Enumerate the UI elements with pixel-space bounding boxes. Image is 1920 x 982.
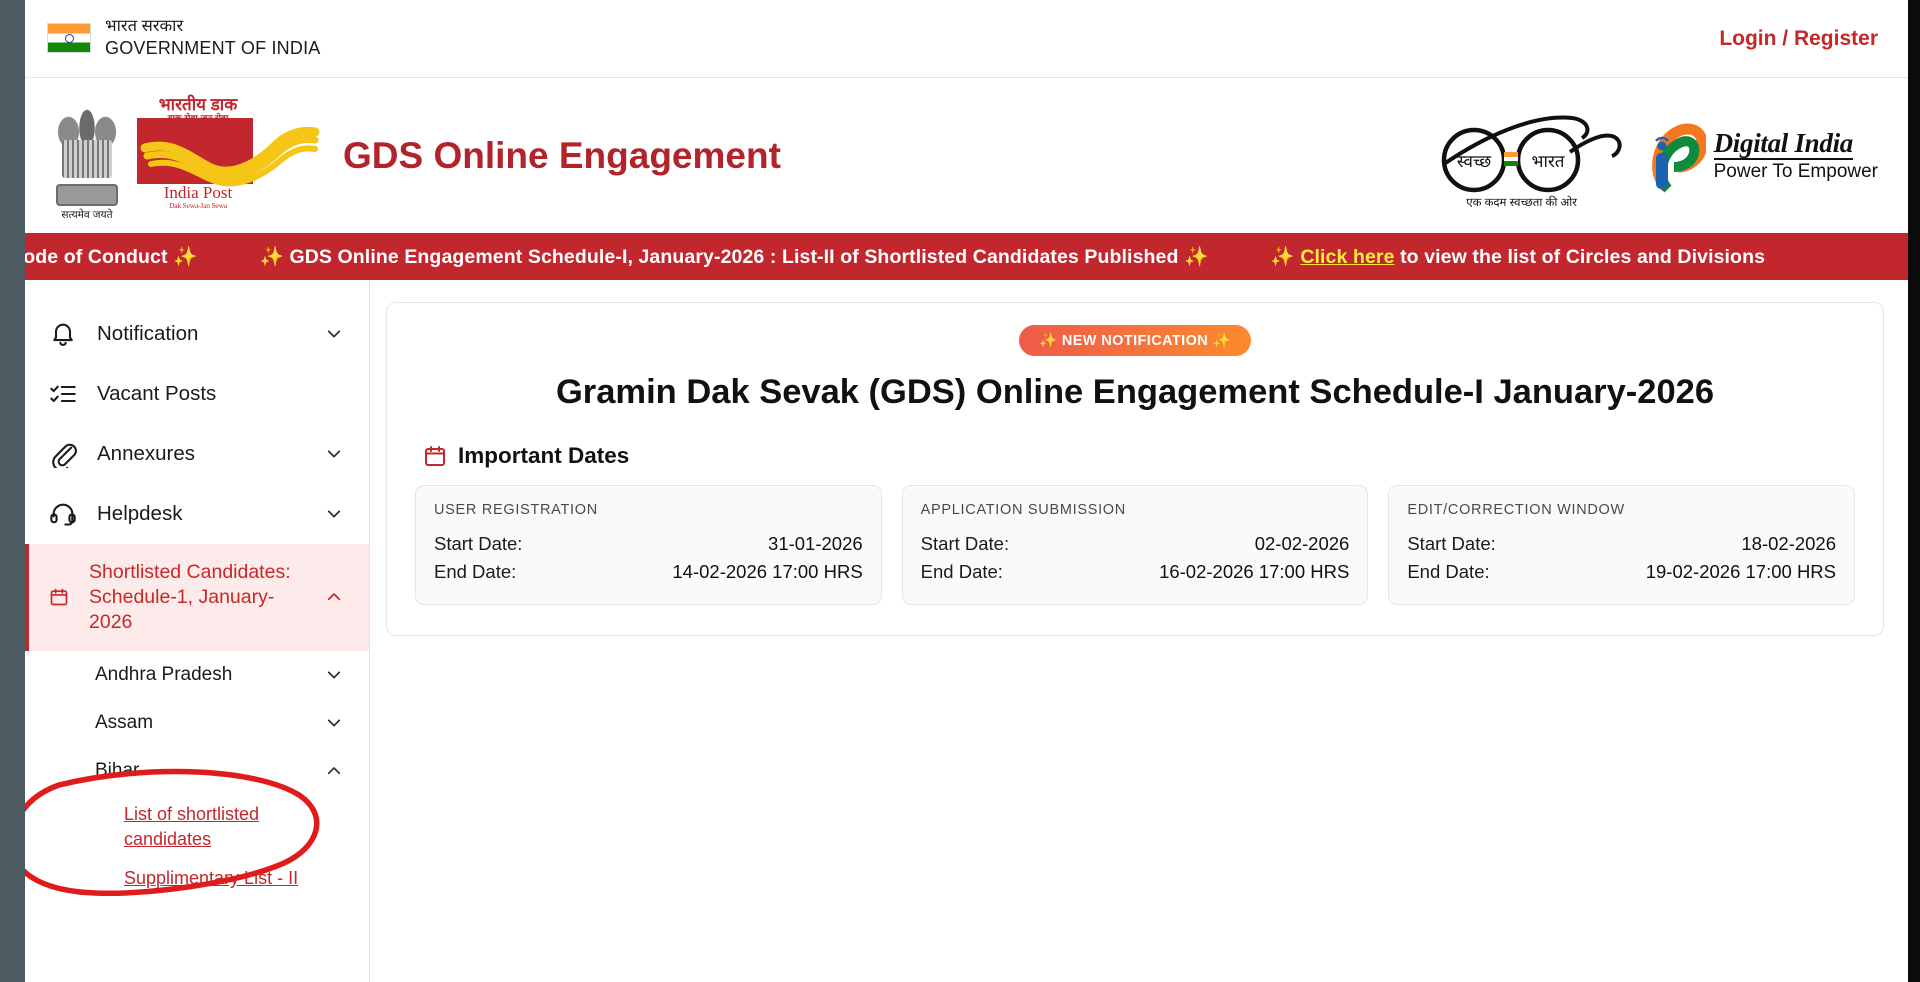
sidebar-item-vacant-posts[interactable]: Vacant Posts	[25, 364, 369, 424]
date-label: Start Date:	[921, 533, 1009, 555]
digital-india-mark-icon	[1648, 119, 1706, 193]
chevron-down-icon[interactable]	[325, 666, 343, 684]
announcement-marquee[interactable]: hheld due to the Model Code of Conduct ✨…	[25, 233, 1908, 280]
sidebar-item-shortlisted-candidates[interactable]: Shortlisted Candidates: Schedule-1, Janu…	[25, 544, 369, 651]
marquee-item[interactable]: hheld due to the Model Code of Conduct ✨	[25, 245, 198, 269]
page-frame: भारत सरकार GOVERNMENT OF INDIA Login / R…	[0, 0, 1920, 982]
chevron-down-icon[interactable]	[325, 505, 343, 523]
notification-card: ✨ NEW NOTIFICATION ✨ Gramin Dak Sevak (G…	[386, 302, 1884, 636]
date-value: 19-02-2026 17:00 HRS	[1646, 561, 1836, 583]
list-check-icon	[49, 380, 77, 408]
digital-india-logo: Digital India Power To Empower	[1648, 119, 1878, 193]
date-card-header: EDIT/CORRECTION WINDOW	[1407, 502, 1836, 518]
sidebar-item-label: Assam	[95, 712, 325, 734]
date-row: Start Date: 18-02-2026	[1407, 530, 1836, 558]
marquee-item[interactable]: ✨ Click here to view the list of Circles…	[1270, 245, 1765, 269]
date-label: End Date:	[1407, 561, 1489, 583]
link-list-of-shortlisted-candidates[interactable]: List of shortlisted candidates	[124, 802, 314, 852]
sidebar-item-assam[interactable]: Assam	[25, 699, 369, 747]
login-register-link[interactable]: Login / Register	[1719, 27, 1878, 51]
badge-container: ✨ NEW NOTIFICATION ✨	[413, 325, 1857, 356]
page-viewport: भारत सरकार GOVERNMENT OF INDIA Login / R…	[25, 0, 1908, 982]
chevron-up-icon[interactable]	[325, 588, 343, 606]
important-dates-heading: Important Dates	[423, 443, 1857, 469]
sparkle-icon: ✨	[1184, 246, 1208, 268]
date-card-header: USER REGISTRATION	[434, 502, 863, 518]
goi-labels: भारत सरकार GOVERNMENT OF INDIA	[105, 16, 321, 60]
date-value: 16-02-2026 17:00 HRS	[1159, 561, 1349, 583]
sidebar-item-label: Notification	[97, 322, 305, 346]
date-value: 31-01-2026	[768, 533, 863, 555]
sidebar: Notification Vacant Posts	[25, 280, 370, 982]
main-content: ✨ NEW NOTIFICATION ✨ Gramin Dak Sevak (G…	[370, 280, 1908, 982]
india-post-hindi-sub: डाक सेवा-जन सेवा	[140, 114, 256, 123]
sidebar-item-label: Andhra Pradesh	[95, 664, 325, 686]
date-value: 14-02-2026 17:00 HRS	[672, 561, 862, 583]
swachh-bharat-glasses-icon: स्वच्छ भारत	[1422, 108, 1622, 194]
status-badge: ✨ NEW NOTIFICATION ✨	[1019, 325, 1251, 356]
marquee-click-here-link[interactable]: Click here	[1300, 246, 1394, 268]
site-header: सत्यमेव जयते भारतीय डाक डाक सेवा-जन सेवा…	[25, 78, 1908, 233]
marquee-link-rest-text: to view the list of Circles and Division…	[1400, 246, 1765, 268]
list-item[interactable]: List of shortlisted candidates	[25, 795, 369, 859]
ashoka-chakra-icon	[65, 34, 74, 43]
sidebar-item-annexures[interactable]: Annexures	[25, 424, 369, 484]
date-value: 18-02-2026	[1741, 533, 1836, 555]
swachh-bharat-caption: एक कदम स्वच्छता की ओर	[1422, 195, 1622, 210]
important-dates-grid: USER REGISTRATION Start Date: 31-01-2026…	[415, 485, 1855, 605]
date-value: 02-02-2026	[1255, 533, 1350, 555]
sparkle-icon: ✨	[1270, 246, 1294, 268]
swachh-bharat-logo: स्वच्छ भारत एक कदम स्वच्छता की ओर	[1422, 100, 1622, 212]
list-item[interactable]: Supplimentary List - II	[25, 859, 369, 898]
date-row: End Date: 16-02-2026 17:00 HRS	[921, 558, 1350, 586]
date-card-application-submission: APPLICATION SUBMISSION Start Date: 02-02…	[902, 485, 1369, 605]
india-post-swoosh-icon	[145, 130, 315, 188]
date-label: End Date:	[434, 561, 516, 583]
header-logos: स्वच्छ भारत एक कदम स्वच्छता की ओर Digi	[1422, 100, 1878, 212]
chevron-down-icon[interactable]	[325, 325, 343, 343]
india-post-logo: भारतीय डाक डाक सेवा-जन सेवा India Post D…	[137, 96, 287, 216]
page-title: GDS Online Engagement	[343, 135, 781, 177]
india-post-name: India Post	[164, 183, 232, 202]
sidebar-item-label: Helpdesk	[97, 502, 305, 526]
sidebar-item-label: Bihar	[95, 760, 325, 782]
sparkle-icon: ✨	[173, 246, 197, 268]
marquee-item-text: GDS Online Engagement Schedule-I, Januar…	[289, 246, 1178, 268]
paperclip-icon	[49, 440, 77, 468]
date-card-edit-correction-window: EDIT/CORRECTION WINDOW Start Date: 18-02…	[1388, 485, 1855, 605]
digital-india-title: Digital India	[1714, 129, 1853, 159]
india-flag-icon	[47, 23, 91, 53]
goi-english-label: GOVERNMENT OF INDIA	[105, 37, 321, 60]
emblem-motto-label: सत्यमेव जयते	[61, 208, 112, 222]
sidebar-item-notification[interactable]: Notification	[25, 304, 369, 364]
svg-text:भारत: भारत	[1531, 152, 1564, 171]
chevron-down-icon[interactable]	[325, 714, 343, 732]
india-post-tagline: Dak Sewa-Jan Sewa	[140, 202, 256, 210]
marquee-track: hheld due to the Model Code of Conduct ✨…	[25, 245, 1765, 269]
date-row: Start Date: 02-02-2026	[921, 530, 1350, 558]
date-row: Start Date: 31-01-2026	[434, 530, 863, 558]
india-post-hindi-main: भारतीय डाक	[159, 95, 238, 114]
bell-icon	[49, 320, 77, 348]
window-left-rail	[0, 0, 25, 982]
digital-india-text: Digital India Power To Empower	[1714, 129, 1878, 181]
chevron-up-icon[interactable]	[325, 762, 343, 780]
sidebar-item-label: Vacant Posts	[97, 382, 343, 406]
goi-hindi-label: भारत सरकार	[105, 16, 321, 37]
government-of-india-bar: भारत सरकार GOVERNMENT OF INDIA Login / R…	[25, 0, 1908, 78]
link-supplimentary-list-2[interactable]: Supplimentary List - II	[124, 866, 298, 891]
calendar-icon	[49, 587, 69, 607]
svg-text:स्वच्छ: स्वच्छ	[1456, 152, 1491, 171]
notification-title: Gramin Dak Sevak (GDS) Online Engagement…	[473, 372, 1797, 413]
headset-icon	[49, 500, 77, 528]
date-card-user-registration: USER REGISTRATION Start Date: 31-01-2026…	[415, 485, 882, 605]
marquee-item-text: hheld due to the Model Code of Conduct	[25, 246, 168, 268]
india-post-hindi-label: भारतीय डाक डाक सेवा-जन सेवा	[140, 96, 256, 123]
sidebar-item-helpdesk[interactable]: Helpdesk	[25, 484, 369, 544]
sidebar-item-label: Annexures	[97, 442, 305, 466]
india-post-name-label: India Post Dak Sewa-Jan Sewa	[140, 184, 256, 210]
sidebar-item-bihar[interactable]: Bihar	[25, 747, 369, 795]
date-row: End Date: 14-02-2026 17:00 HRS	[434, 558, 863, 586]
national-emblem-logo: सत्यमेव जयते	[51, 90, 123, 222]
window-right-rail	[1908, 0, 1920, 982]
date-label: End Date:	[921, 561, 1003, 583]
sparkle-icon: ✨	[260, 246, 284, 268]
chevron-down-icon[interactable]	[325, 445, 343, 463]
date-card-header: APPLICATION SUBMISSION	[921, 502, 1350, 518]
sidebar-item-label: Shortlisted Candidates: Schedule-1, Janu…	[89, 560, 305, 635]
emblem-chakra-icon	[78, 186, 96, 204]
goi-identity: भारत सरकार GOVERNMENT OF INDIA	[47, 16, 321, 60]
date-row: End Date: 19-02-2026 17:00 HRS	[1407, 558, 1836, 586]
marquee-item[interactable]: ✨ GDS Online Engagement Schedule-I, Janu…	[260, 245, 1209, 269]
section-title: Important Dates	[458, 443, 629, 469]
date-label: Start Date:	[434, 533, 522, 555]
calendar-icon	[423, 444, 447, 468]
sidebar-item-andhra-pradesh[interactable]: Andhra Pradesh	[25, 651, 369, 699]
digital-india-subtitle: Power To Empower	[1714, 162, 1878, 182]
date-label: Start Date:	[1407, 533, 1495, 555]
content-row: Notification Vacant Posts	[25, 280, 1908, 982]
ashoka-lions-icon	[54, 106, 120, 206]
